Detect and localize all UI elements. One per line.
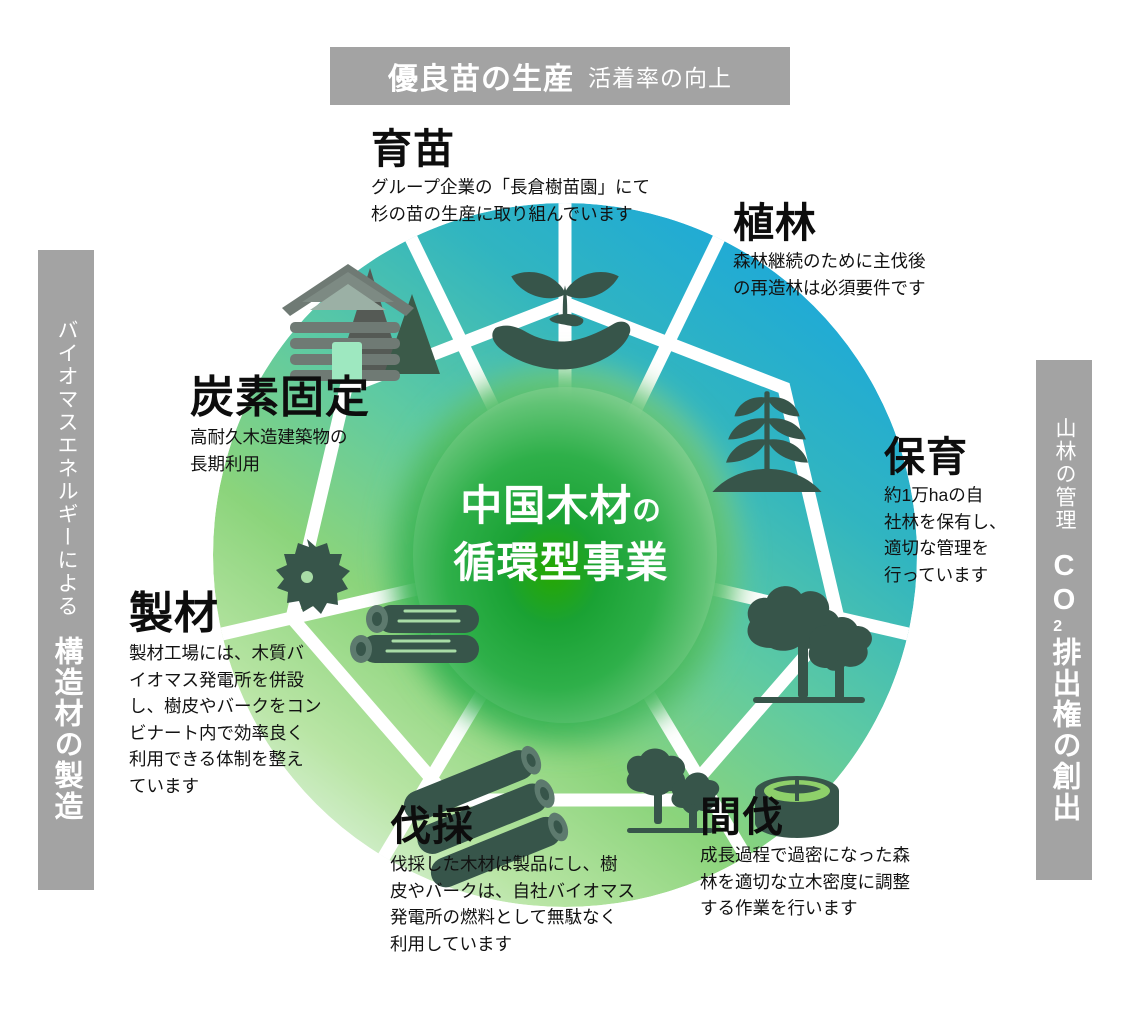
- node-seizai: 製材 製材工場には、木質バイオマス発電所を併設し、樹皮やバークをコンビナート内で…: [129, 592, 322, 800]
- banner-left-light-label: バイオマスエネルギーによる: [51, 319, 81, 618]
- node-bassai: 伐採 伐採した木材は製品にし、樹皮やバークは、自社バイオマス発電所の燃料として無…: [390, 806, 635, 957]
- center-core: [390, 365, 740, 745]
- node-shokurin-title: 植林: [733, 203, 926, 244]
- node-tanso-title: 炭素固定: [190, 376, 370, 420]
- node-ikubyo-desc: グループ企業の「長倉樹苗園」にて杉の苗の生産に取り組んでいます: [371, 174, 650, 227]
- node-hoiku: 保育 約1万haの自社林を保有し、適切な管理を行っています: [884, 437, 1007, 588]
- node-hoiku-desc: 約1万haの自社林を保有し、適切な管理を行っています: [884, 482, 1007, 588]
- node-tanso: 炭素固定 高耐久木造建築物の長期利用: [190, 376, 370, 477]
- node-tanso-desc: 高耐久木造建築物の長期利用: [190, 424, 370, 477]
- banner-top-light-label: 活着率の向上: [588, 59, 732, 93]
- node-seizai-desc: 製材工場には、木質バイオマス発電所を併設し、樹皮やバークをコンビナート内で効率良…: [129, 640, 322, 800]
- node-bassai-desc: 伐採した木材は製品にし、樹皮やバークは、自社バイオマス発電所の燃料として無駄なく…: [390, 851, 635, 957]
- banner-left-strong-label: 構造材の製造: [45, 636, 87, 822]
- banner-left: バイオマスエネルギーによる 構造材の製造: [38, 250, 94, 890]
- node-hoiku-title: 保育: [884, 437, 1007, 478]
- banner-top-strong-label: 優良苗の生産: [388, 54, 574, 98]
- node-kanbatsu-title: 間伐: [700, 797, 910, 838]
- node-shokurin: 植林 森林継続のために主伐後の再造林は必須要件です: [733, 203, 926, 301]
- banner-top: 優良苗の生産 活着率の向上: [330, 47, 790, 105]
- banner-right-light-label: 山林の管理: [1049, 417, 1079, 532]
- infographic-canvas: 優良苗の生産 活着率の向上 バイオマスエネルギーによる 構造材の製造 山林の管理…: [0, 0, 1130, 1019]
- node-kanbatsu: 間伐 成長過程で過密になった森林を適切な立木密度に調整する作業を行います: [700, 797, 910, 922]
- node-shokurin-desc: 森林継続のために主伐後の再造林は必須要件です: [733, 248, 926, 301]
- node-ikubyo: 育苗 グループ企業の「長倉樹苗園」にて杉の苗の生産に取り組んでいます: [371, 129, 650, 227]
- node-kanbatsu-desc: 成長過程で過密になった森林を適切な立木密度に調整する作業を行います: [700, 842, 910, 922]
- banner-right: 山林の管理 CO2排出権の創出: [1036, 360, 1092, 880]
- node-seizai-title: 製材: [129, 592, 322, 636]
- node-bassai-title: 伐採: [390, 806, 635, 847]
- banner-right-strong-label: CO2排出権の創出: [1043, 550, 1085, 823]
- node-ikubyo-title: 育苗: [371, 129, 650, 170]
